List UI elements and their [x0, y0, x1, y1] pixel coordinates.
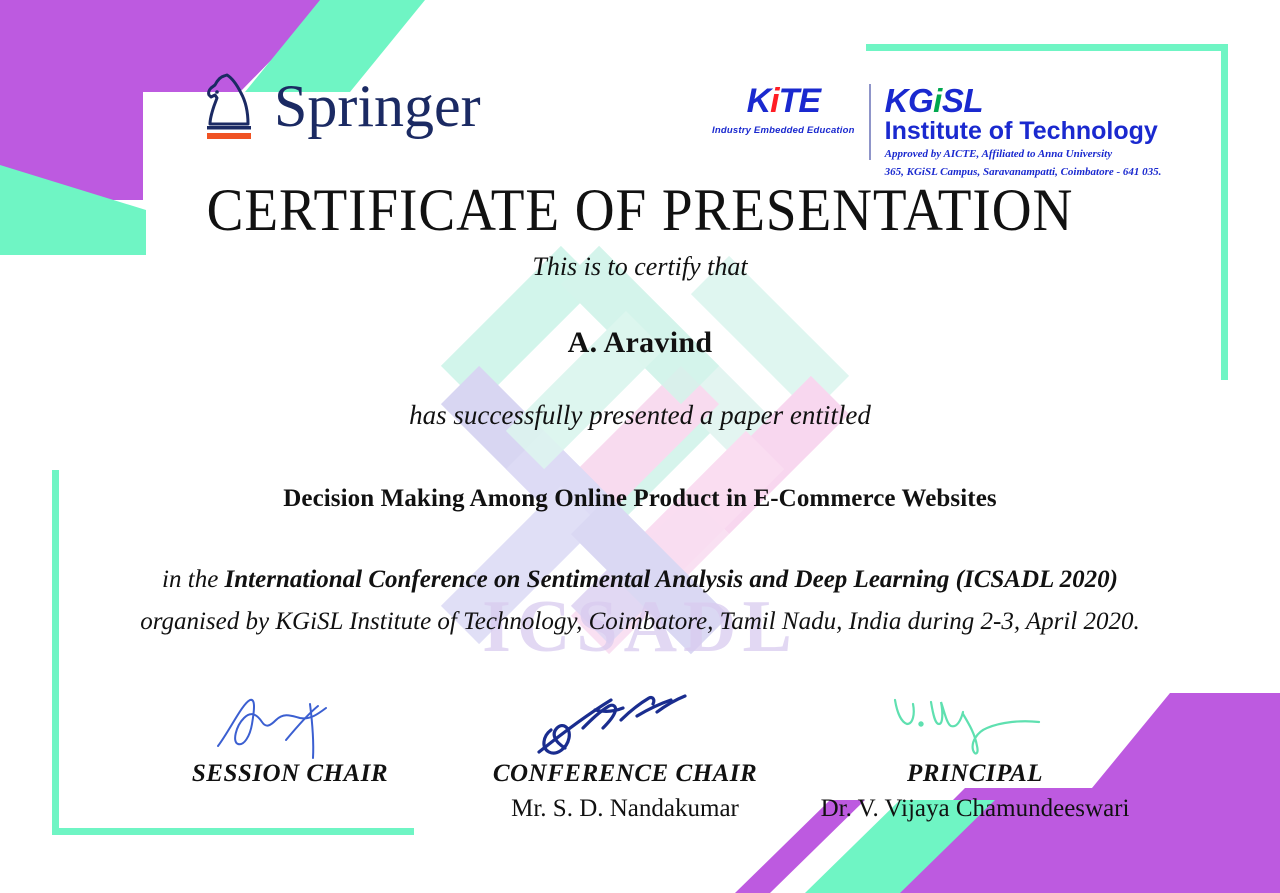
- signature-row: SESSION CHAIR CONFERENCE CHAIR: [0, 690, 1280, 823]
- signature-name-label: Mr. S. D. Nandakumar: [455, 795, 795, 823]
- signature-role-label: PRINCIPAL: [795, 760, 1155, 788]
- springer-logo: Springer: [198, 70, 481, 142]
- kgisl-accreditation: Approved by AICTE, Affiliated to Anna Un…: [885, 147, 1162, 161]
- signature-role-label: CONFERENCE CHAIR: [455, 760, 795, 788]
- paper-title: Decision Making Among Online Product in …: [0, 485, 1280, 513]
- recipient-name: A. Aravind: [0, 326, 1280, 360]
- kgisl-wordmark: KGiSL: [885, 84, 1162, 117]
- principal-signature: [875, 690, 1075, 762]
- signature-name-label: Dr. V. Vijaya Chamundeeswari: [795, 795, 1155, 823]
- conference-line: in the International Conference on Senti…: [0, 566, 1280, 594]
- certify-line: This is to certify that: [0, 252, 1280, 282]
- kgisl-logo-group: KiTE Industry Embedded Education KGiSL I…: [712, 84, 1161, 179]
- springer-wordmark: Springer: [274, 76, 481, 136]
- kite-tagline: Industry Embedded Education: [712, 125, 855, 136]
- signature-block-principal: PRINCIPAL Dr. V. Vijaya Chamundeeswari: [795, 690, 1155, 823]
- chess-knight-icon: [198, 70, 260, 142]
- conference-chair-signature: [525, 690, 725, 762]
- signature-role-label: SESSION CHAIR: [125, 760, 455, 788]
- springer-orange-bar: [207, 133, 251, 139]
- certificate-title: CERTIFICATE OF PRESENTATION: [51, 176, 1229, 245]
- kgisl-subtitle: Institute of Technology: [885, 118, 1162, 144]
- kite-wordmark: KiTE: [712, 84, 855, 118]
- organiser-line: organised by KGiSL Institute of Technolo…: [0, 608, 1280, 636]
- logo-row: Springer KiTE Industry Embedded Educatio…: [0, 62, 1280, 172]
- session-chair-signature: [200, 690, 380, 762]
- signature-block-session-chair: SESSION CHAIR: [125, 690, 455, 823]
- presented-line: has successfully presented a paper entit…: [0, 400, 1280, 431]
- conference-name: International Conference on Sentimental …: [225, 566, 1118, 593]
- signature-block-conference-chair: CONFERENCE CHAIR Mr. S. D. Nandakumar: [455, 690, 795, 823]
- certificate-document: ICSADL Springer KiTE Industry Embedded E…: [0, 0, 1280, 893]
- conference-prefix: in the: [162, 566, 225, 593]
- logo-divider: [869, 84, 871, 160]
- kite-logo: KiTE Industry Embedded Education: [712, 84, 869, 136]
